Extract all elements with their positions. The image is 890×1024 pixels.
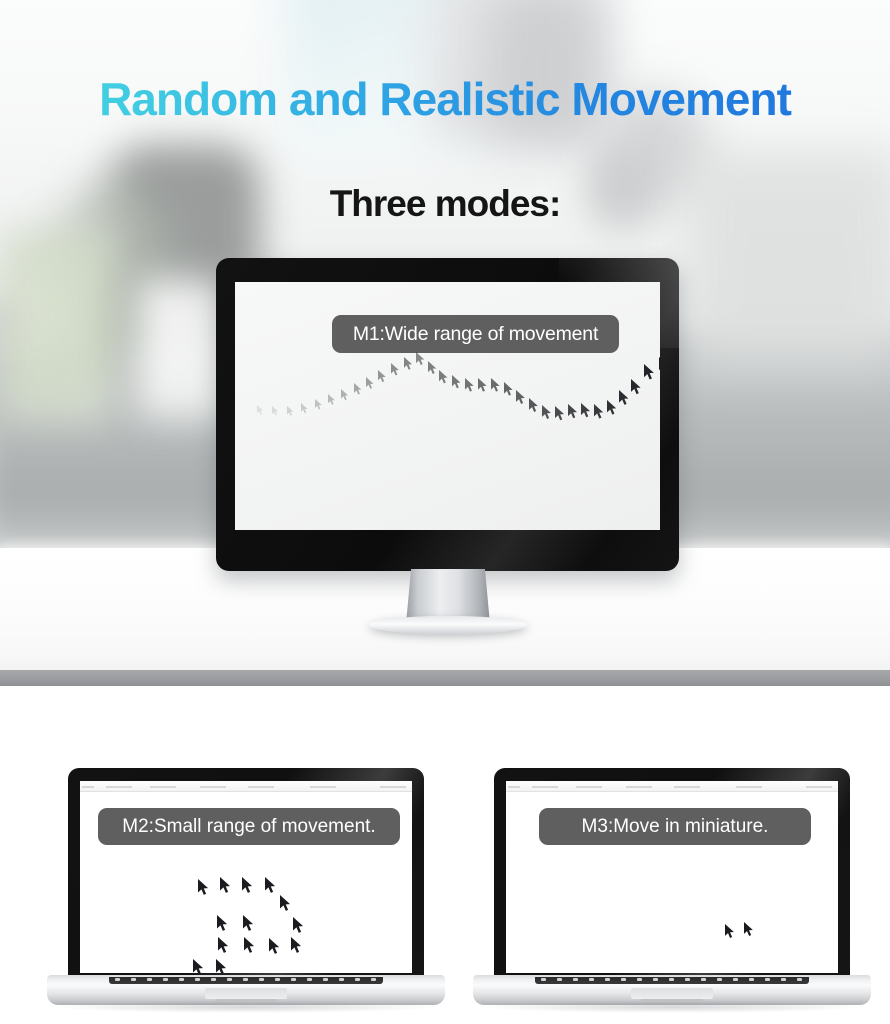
laptop-m3-screen: M3:Move in miniature. xyxy=(506,781,838,973)
laptop-m2-shadow xyxy=(51,1001,441,1013)
keyboard-key xyxy=(355,978,360,981)
keyboard-key xyxy=(243,978,248,981)
monitor-stand-base xyxy=(369,616,527,634)
keyboard-key xyxy=(797,978,802,981)
keyboard-key xyxy=(259,978,264,981)
keyboard-key xyxy=(573,978,578,981)
keyboard-key xyxy=(749,978,754,981)
keyboard-key xyxy=(781,978,786,981)
cursor-trail-m1 xyxy=(235,282,660,530)
cursor-trail-m3 xyxy=(506,781,838,973)
keyboard-key xyxy=(541,978,546,981)
keyboard-key xyxy=(765,978,770,981)
top-section: Random and Realistic Movement Three mode… xyxy=(0,0,890,686)
keyboard-key xyxy=(621,978,626,981)
laptop-m2-keyboard xyxy=(109,977,383,984)
laptop-m2-lid: M2:Small range of movement. xyxy=(68,768,424,981)
background-plant-blob xyxy=(0,230,110,420)
laptop-m3-lid: M3:Move in miniature. xyxy=(494,768,850,981)
keyboard-key xyxy=(147,978,152,981)
keyboard-key xyxy=(163,978,168,981)
keyboard-key xyxy=(605,978,610,981)
keyboard-key xyxy=(195,978,200,981)
subtitle: Three modes: xyxy=(0,183,890,225)
keyboard-key xyxy=(589,978,594,981)
laptop-m3-shadow xyxy=(477,1001,867,1013)
desktop-monitor: M1:Wide range of movement xyxy=(216,258,679,571)
cursor-trail-m2 xyxy=(80,781,412,973)
keyboard-key xyxy=(131,978,136,981)
keyboard-key xyxy=(227,978,232,981)
keyboard-key xyxy=(339,978,344,981)
page-title: Random and Realistic Movement xyxy=(0,72,890,126)
laptop-m2: M2:Small range of movement. xyxy=(47,768,445,1024)
keyboard-key xyxy=(733,978,738,981)
laptop-m3-trackpad xyxy=(631,988,713,999)
laptop-m2-trackpad xyxy=(205,988,287,999)
keyboard-key xyxy=(323,978,328,981)
keyboard-key xyxy=(307,978,312,981)
keyboard-key xyxy=(211,978,216,981)
bottom-section: M2:Small range of movement. M3:Move in m… xyxy=(0,686,890,1024)
keyboard-key xyxy=(115,978,120,981)
keyboard-key xyxy=(653,978,658,981)
laptop-m3-keyboard xyxy=(535,977,809,984)
desk-front-lip xyxy=(0,670,890,686)
keyboard-key xyxy=(371,978,376,981)
laptop-m2-screen: M2:Small range of movement. xyxy=(80,781,412,973)
keyboard-key xyxy=(291,978,296,981)
keyboard-key xyxy=(717,978,722,981)
keyboard-key xyxy=(701,978,706,981)
monitor-screen: M1:Wide range of movement xyxy=(235,282,660,530)
keyboard-key xyxy=(669,978,674,981)
keyboard-key xyxy=(179,978,184,981)
keyboard-key xyxy=(275,978,280,981)
keyboard-key xyxy=(637,978,642,981)
keyboard-key xyxy=(685,978,690,981)
laptop-m3: M3:Move in miniature. xyxy=(473,768,871,1024)
keyboard-key xyxy=(557,978,562,981)
